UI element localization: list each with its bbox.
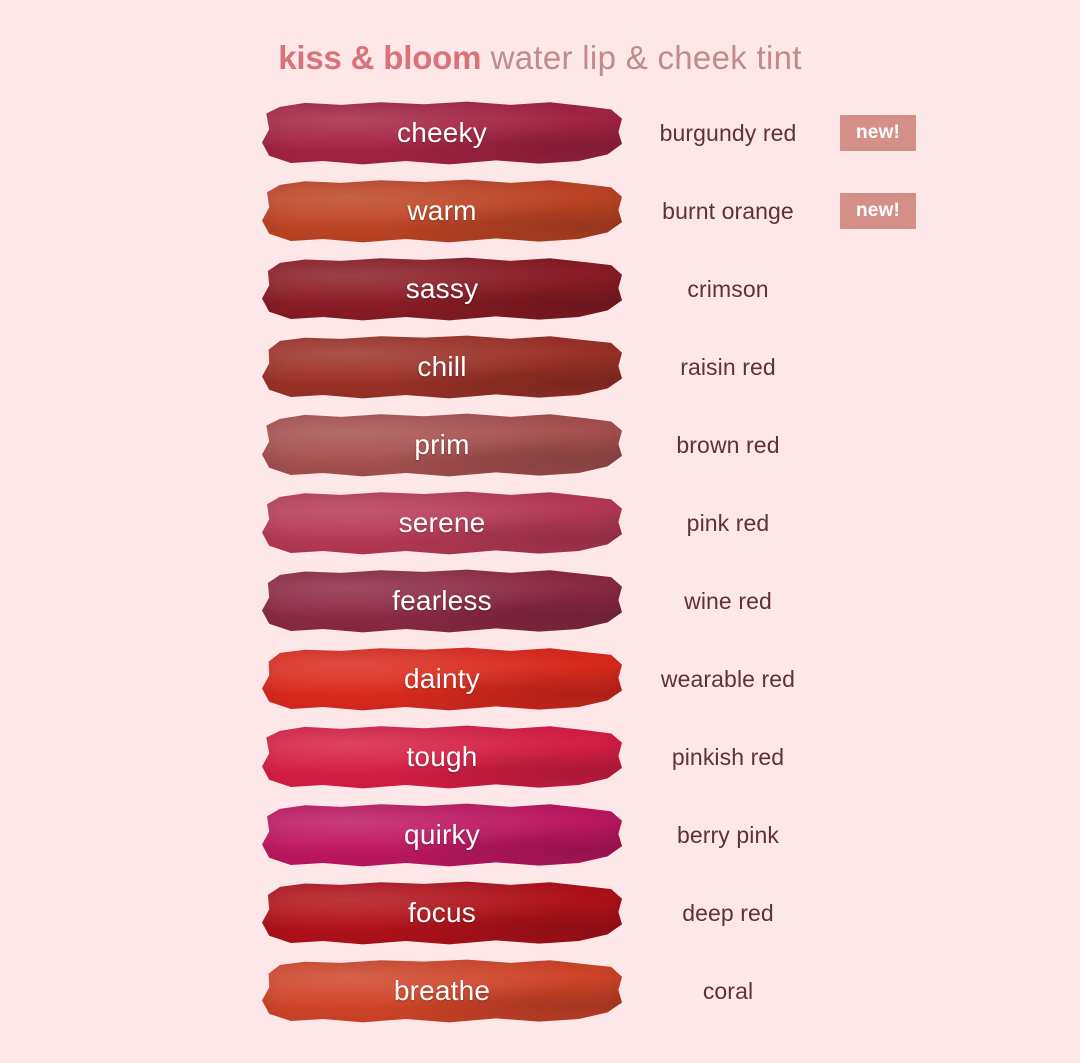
- badge-slot: new!: [840, 94, 950, 172]
- shade-name: tough: [262, 718, 622, 796]
- shade-description: wine red: [622, 562, 834, 640]
- shade-row[interactable]: serenepink rednew!: [0, 484, 1080, 562]
- page-title: kiss & bloom water lip & cheek tint: [0, 40, 1080, 76]
- shade-name: breathe: [262, 952, 622, 1030]
- badge-slot: new!: [840, 562, 950, 640]
- badge-slot: new!: [840, 172, 950, 250]
- shade-row[interactable]: chillraisin rednew!: [0, 328, 1080, 406]
- shade-description: crimson: [622, 250, 834, 328]
- shade-list: cheekyburgundy rednew!warmburnt orangene…: [0, 94, 1080, 1030]
- shade-row[interactable]: fearlesswine rednew!: [0, 562, 1080, 640]
- shade-description: pinkish red: [622, 718, 834, 796]
- badge-slot: new!: [840, 406, 950, 484]
- shade-description: deep red: [622, 874, 834, 952]
- brand-name: kiss & bloom: [278, 39, 481, 76]
- badge-slot: new!: [840, 796, 950, 874]
- shade-description: raisin red: [622, 328, 834, 406]
- page-header: kiss & bloom water lip & cheek tint: [0, 0, 1080, 76]
- badge-slot: new!: [840, 640, 950, 718]
- shade-row[interactable]: quirkyberry pinknew!: [0, 796, 1080, 874]
- shade-chart-page: { "page": { "background_color": "#FDE7E8…: [0, 0, 1080, 1063]
- new-badge: new!: [840, 115, 916, 151]
- shade-description: brown red: [622, 406, 834, 484]
- shade-description: berry pink: [622, 796, 834, 874]
- badge-slot: new!: [840, 874, 950, 952]
- shade-description: burnt orange: [622, 172, 834, 250]
- shade-row[interactable]: warmburnt orangenew!: [0, 172, 1080, 250]
- badge-slot: new!: [840, 328, 950, 406]
- shade-row[interactable]: daintywearable rednew!: [0, 640, 1080, 718]
- shade-name: prim: [262, 406, 622, 484]
- badge-slot: new!: [840, 250, 950, 328]
- shade-row[interactable]: focusdeep rednew!: [0, 874, 1080, 952]
- product-descriptor: water lip & cheek tint: [491, 39, 802, 76]
- shade-name: sassy: [262, 250, 622, 328]
- shade-description: burgundy red: [622, 94, 834, 172]
- shade-name: cheeky: [262, 94, 622, 172]
- shade-description: coral: [622, 952, 834, 1030]
- shade-description: pink red: [622, 484, 834, 562]
- shade-description: wearable red: [622, 640, 834, 718]
- shade-name: chill: [262, 328, 622, 406]
- badge-slot: new!: [840, 484, 950, 562]
- badge-slot: new!: [840, 952, 950, 1030]
- shade-row[interactable]: toughpinkish rednew!: [0, 718, 1080, 796]
- shade-row[interactable]: sassycrimsonnew!: [0, 250, 1080, 328]
- shade-name: serene: [262, 484, 622, 562]
- shade-row[interactable]: cheekyburgundy rednew!: [0, 94, 1080, 172]
- badge-slot: new!: [840, 718, 950, 796]
- shade-row[interactable]: breathecoralnew!: [0, 952, 1080, 1030]
- shade-name: fearless: [262, 562, 622, 640]
- shade-name: quirky: [262, 796, 622, 874]
- shade-name: dainty: [262, 640, 622, 718]
- shade-row[interactable]: primbrown rednew!: [0, 406, 1080, 484]
- shade-name: warm: [262, 172, 622, 250]
- new-badge: new!: [840, 193, 916, 229]
- shade-name: focus: [262, 874, 622, 952]
